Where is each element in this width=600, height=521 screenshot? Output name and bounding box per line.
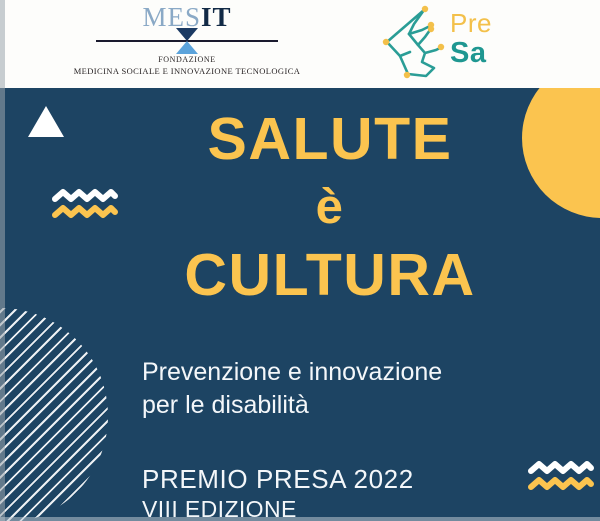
- mesit-foundation-label: FONDAZIONE: [76, 55, 298, 64]
- presa-circuit-hand-icon: [378, 4, 450, 82]
- hourglass-upper-triangle-icon: [176, 28, 198, 41]
- poster-subtitle: Prevenzione e innovazione per le disabil…: [142, 356, 562, 422]
- presa-logo: Pre Sa: [378, 4, 508, 84]
- headline-line-e: è: [130, 172, 530, 242]
- mesit-logo: MESIT FONDAZIONE MEDICINA SOCIALE E INNO…: [76, 2, 298, 82]
- logo-header-band: MESIT FONDAZIONE MEDICINA SOCIALE E INNO…: [0, 0, 600, 88]
- mesit-tagline: MEDICINA SOCIALE E INNOVAZIONE TECNOLOGI…: [50, 66, 324, 76]
- left-edge-gutter: [0, 0, 5, 521]
- headline-line-salute: SALUTE: [130, 106, 530, 172]
- poster-canvas: MESIT FONDAZIONE MEDICINA SOCIALE E INNO…: [0, 0, 600, 521]
- hourglass-icon: [76, 28, 298, 54]
- subtitle-line-2: per le disabilità: [142, 389, 562, 422]
- bottom-edge-gutter: [0, 517, 600, 521]
- wave-yellow-icon: [52, 204, 118, 220]
- yellow-circle-decoration: [522, 88, 600, 218]
- presa-wordmark-sa: Sa: [450, 38, 510, 68]
- wave-white-icon: [52, 188, 118, 204]
- poster-award-block: PREMIO PRESA 2022 VIII EDIZIONE: [142, 463, 562, 521]
- subtitle-line-1: Prevenzione e innovazione: [142, 356, 562, 389]
- wave-decoration-left: [52, 188, 118, 220]
- presa-wordmark-pre: Pre: [450, 8, 510, 38]
- poster-main-panel: SALUTE è CULTURA Prevenzione e innovazio…: [0, 88, 600, 521]
- hourglass-lower-triangle-icon: [176, 41, 198, 54]
- presa-wordmark: Pre Sa: [450, 8, 510, 68]
- poster-headline: SALUTE è CULTURA: [130, 106, 530, 308]
- white-triangle-decoration: [28, 106, 64, 137]
- headline-line-cultura: CULTURA: [130, 242, 530, 308]
- striped-quarter-arc-decoration: [0, 308, 108, 521]
- award-title: PREMIO PRESA 2022: [142, 463, 562, 495]
